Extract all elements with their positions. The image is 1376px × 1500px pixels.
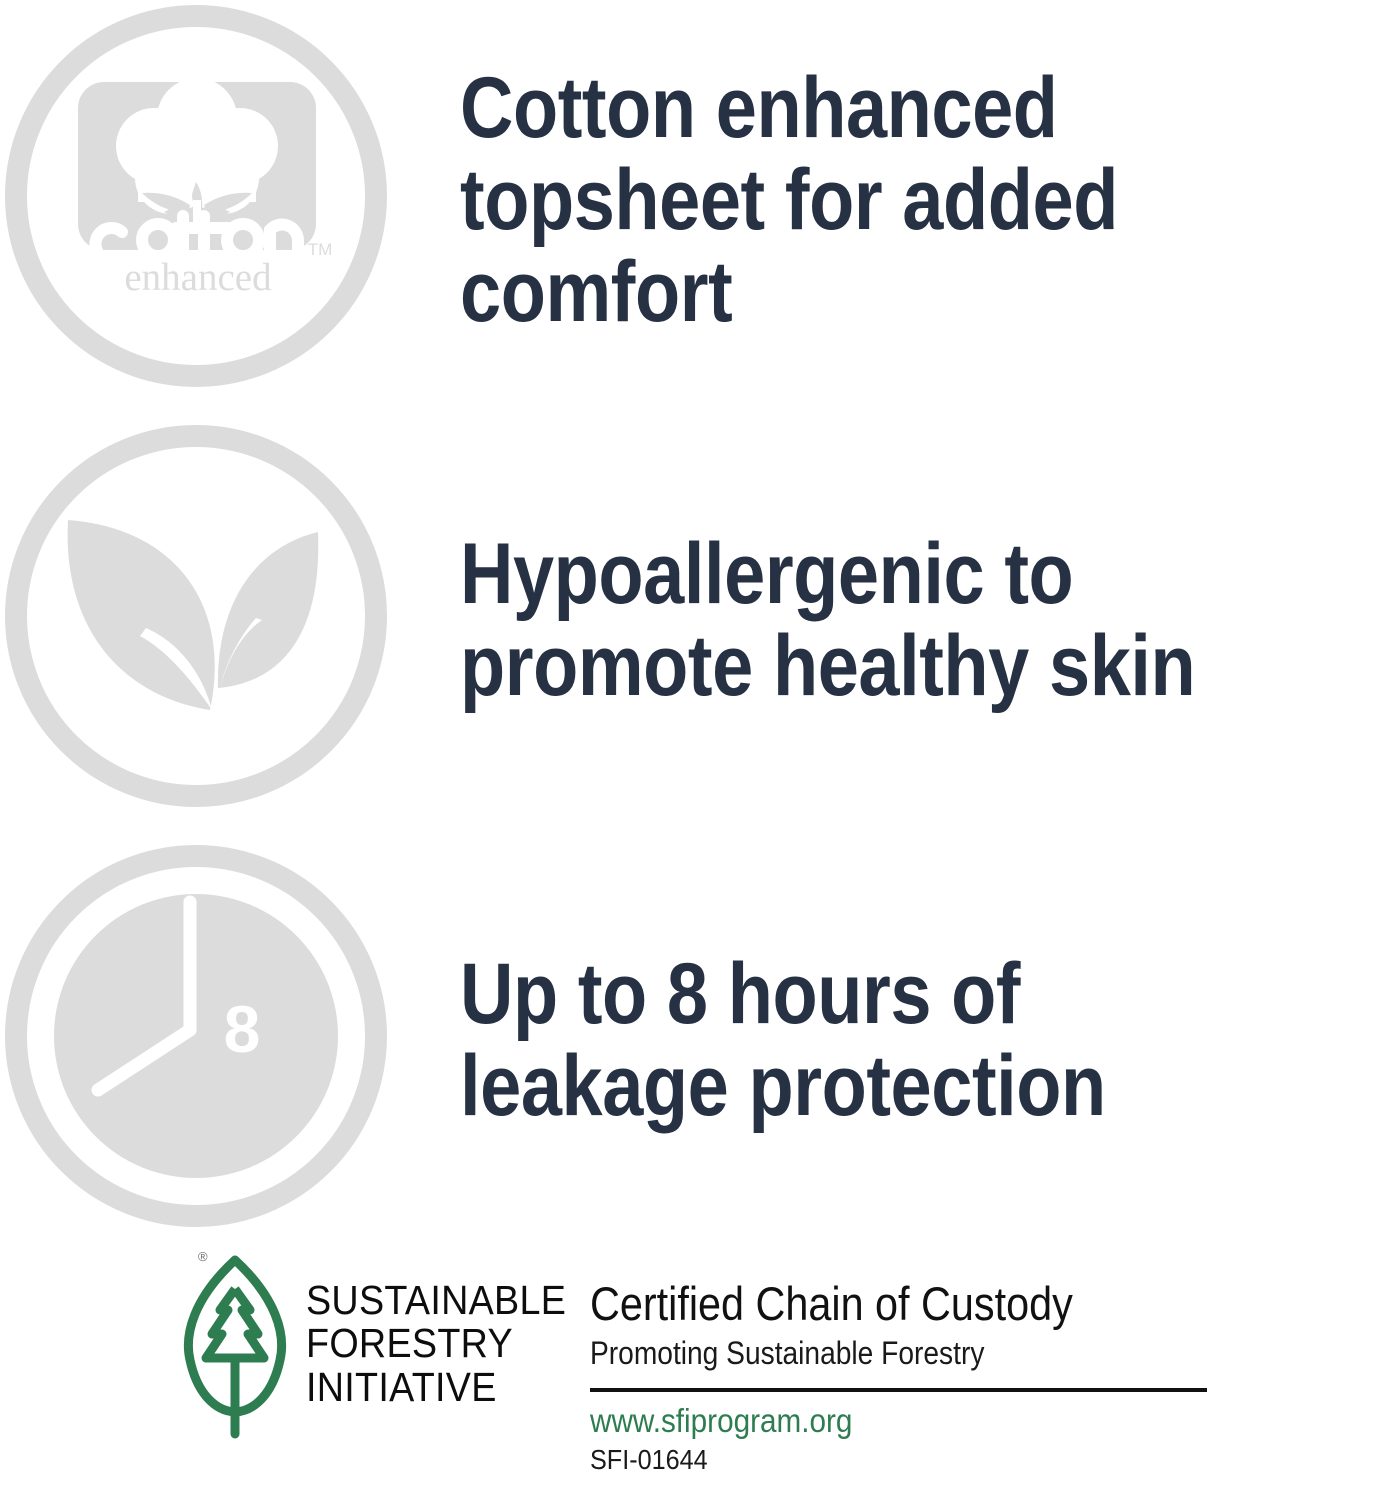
feature-heading-cotton-enhanced: Cotton enhanced topsheet for added comfo…: [460, 62, 1248, 338]
icon-slot-leaves: [0, 420, 400, 820]
sfi-logo-group: ® SUSTAINABLE FORESTRY INITIATIVE: [176, 1248, 589, 1440]
clock-eight-hours-icon: 8: [0, 840, 400, 1240]
icon-slot-cotton: enhanced TM: [0, 0, 400, 400]
sfi-claim-title: Certified Chain of Custody: [590, 1280, 1153, 1327]
feature-heading-leakage-protection: Up to 8 hours of leakage protection: [460, 948, 1248, 1132]
icon-slot-clock: 8: [0, 840, 400, 1240]
cotton-enhanced-badge-icon: enhanced TM: [0, 0, 400, 400]
feature-row-hypoallergenic: Hypoallergenic to promote healthy skin: [0, 420, 1376, 820]
sfi-claim-subtitle: Promoting Sustainable Forestry: [590, 1337, 1153, 1369]
two-leaves-icon: [0, 420, 400, 820]
sfi-divider: [590, 1388, 1207, 1392]
sfi-certificate-code: SFI-01644: [590, 1446, 1166, 1474]
sfi-claim-group: Certified Chain of Custody Promoting Sus…: [590, 1280, 1230, 1474]
sfi-leaf-mark: ®: [176, 1248, 294, 1440]
sfi-certification-block: ® SUSTAINABLE FORESTRY INITIATIVE Certif…: [0, 1240, 1376, 1500]
feature-heading-hypoallergenic: Hypoallergenic to promote healthy skin: [460, 528, 1248, 712]
feature-row-cotton-enhanced: enhanced TM Cotton enhanced topsheet for…: [0, 0, 1376, 400]
cotton-trademark-mark: TM: [308, 240, 333, 259]
sfi-wordmark: SUSTAINABLE FORESTRY INITIATIVE: [306, 1279, 566, 1409]
sfi-leaf-tree-icon: [176, 1248, 294, 1440]
registered-trademark-icon: ®: [198, 1250, 208, 1263]
sfi-website-url[interactable]: www.sfiprogram.org: [590, 1404, 1166, 1437]
cotton-enhanced-subtitle: enhanced: [124, 256, 272, 299]
feature-row-leakage-protection: 8 Up to 8 hours of leakage protection: [0, 840, 1376, 1240]
clock-hour-number: 8: [224, 992, 261, 1066]
